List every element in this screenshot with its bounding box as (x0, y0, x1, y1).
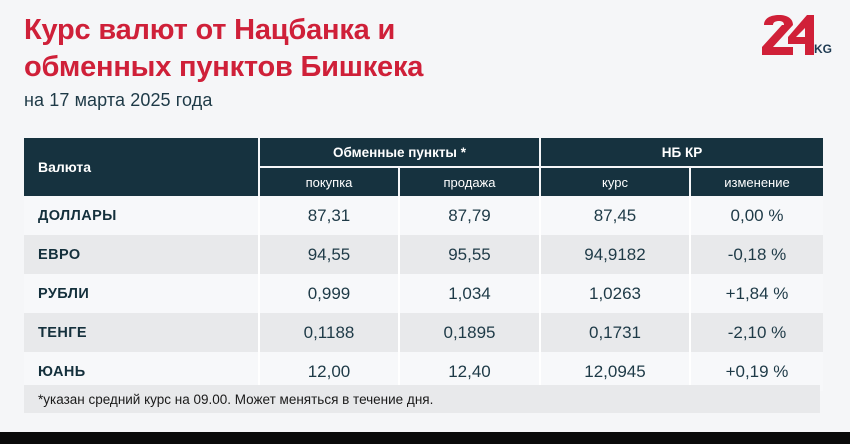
table-header: Валюта Обменные пункты * НБ КР покупка п… (24, 138, 823, 196)
cell-rate: 1,0263 (541, 274, 691, 313)
table-footnote: *указан средний курс на 09.00. Может мен… (24, 385, 820, 413)
cell-sell: 1,034 (400, 274, 541, 313)
column-group-exchange-points: Обменные пункты * (260, 138, 541, 168)
cell-buy: 94,55 (260, 235, 400, 274)
cell-currency: ДОЛЛАРЫ (24, 196, 260, 235)
page-title: Курс валют от Нацбанка и обменных пункто… (24, 12, 724, 86)
24kg-logo-icon: KG (760, 14, 832, 58)
column-header-sell: продажа (400, 168, 541, 196)
page-title-line-1: Курс валют от Нацбанка и (24, 12, 724, 49)
column-header-buy: покупка (260, 168, 400, 196)
bottom-bar (0, 432, 850, 444)
cell-change: -0,18 % (691, 235, 823, 274)
cell-buy: 87,31 (260, 196, 400, 235)
cell-sell: 95,55 (400, 235, 541, 274)
column-header-change: изменение (691, 168, 823, 196)
table-row: РУБЛИ 0,999 1,034 1,0263 +1,84 % (24, 274, 823, 313)
cell-sell: 0,1895 (400, 313, 541, 352)
cell-change: +1,84 % (691, 274, 823, 313)
cell-buy: 0,1188 (260, 313, 400, 352)
cell-change: 0,00 % (691, 196, 823, 235)
svg-text:KG: KG (814, 42, 832, 56)
page-header: Курс валют от Нацбанка и обменных пункто… (0, 0, 850, 130)
cell-buy: 0,999 (260, 274, 400, 313)
cell-rate: 94,9182 (541, 235, 691, 274)
cell-rate: 0,1731 (541, 313, 691, 352)
page-subtitle: на 17 марта 2025 года (24, 90, 212, 111)
page-title-line-2: обменных пунктов Бишкека (24, 49, 724, 86)
cell-change: -2,10 % (691, 313, 823, 352)
cell-currency: ТЕНГЕ (24, 313, 260, 352)
cell-rate: 87,45 (541, 196, 691, 235)
column-group-nbkr: НБ КР (541, 138, 823, 168)
table-row: ЕВРО 94,55 95,55 94,9182 -0,18 % (24, 235, 823, 274)
cell-currency: РУБЛИ (24, 274, 260, 313)
currency-rates-table: Валюта Обменные пункты * НБ КР покупка п… (24, 138, 823, 391)
table-row: ТЕНГЕ 0,1188 0,1895 0,1731 -2,10 % (24, 313, 823, 352)
table-row: ДОЛЛАРЫ 87,31 87,79 87,45 0,00 % (24, 196, 823, 235)
cell-sell: 87,79 (400, 196, 541, 235)
column-header-currency: Валюта (24, 138, 260, 196)
cell-currency: ЕВРО (24, 235, 260, 274)
column-header-rate: курс (541, 168, 691, 196)
